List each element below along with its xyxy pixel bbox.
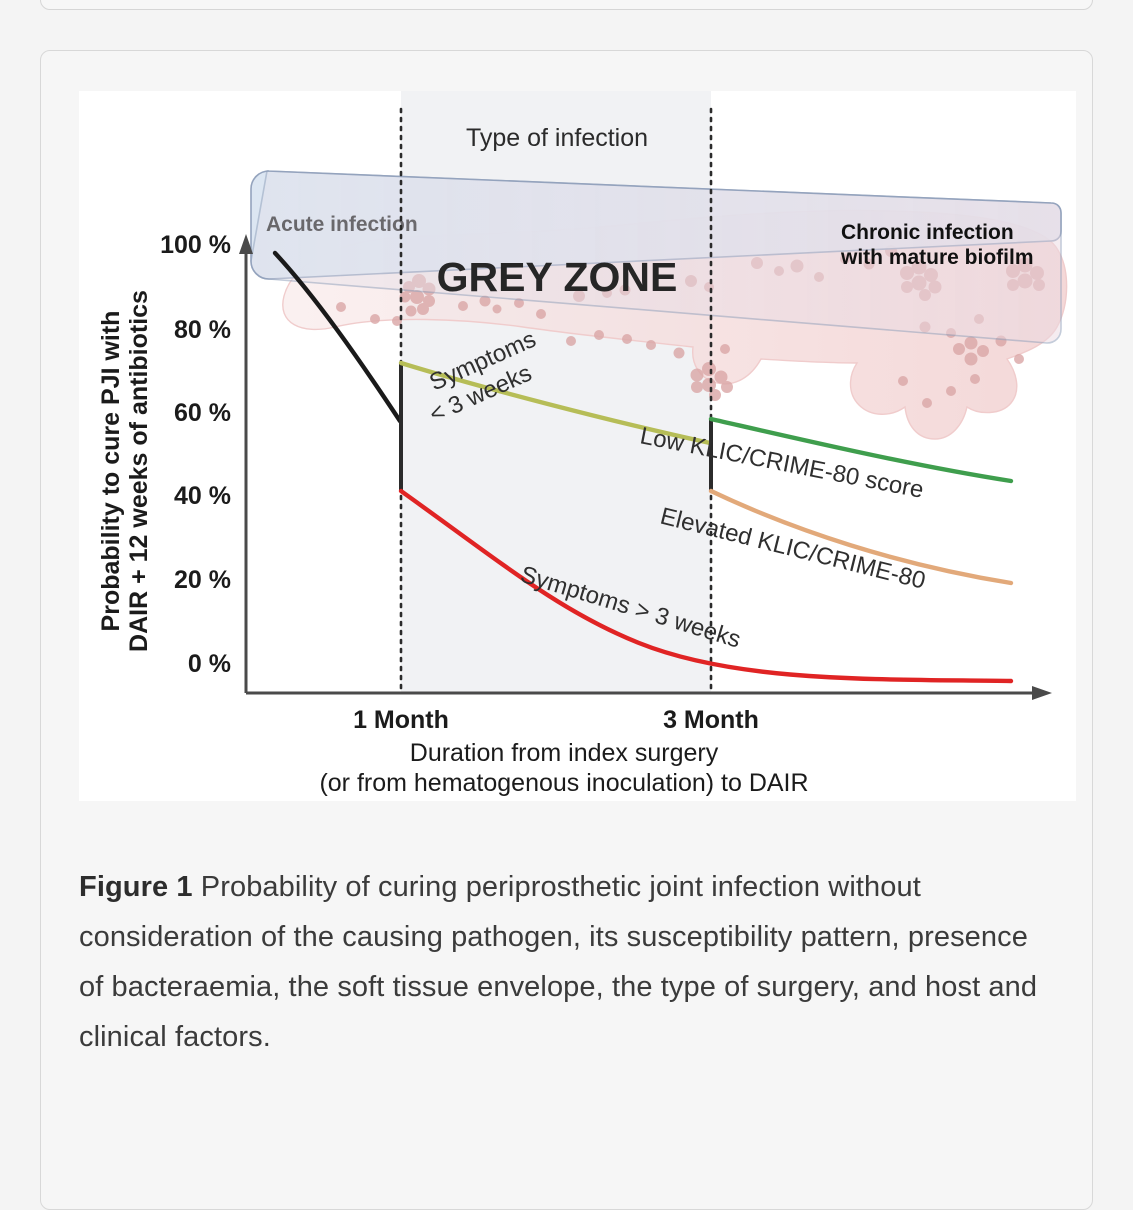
x-axis-title-line2: (or from hematogenous inoculation) to DA… <box>319 769 808 797</box>
y-axis-title: Probability to cure PJI with DAIR + 12 w… <box>97 290 153 652</box>
previous-card-stub <box>40 0 1093 10</box>
chronic-infection-label-line1: Chronic infection <box>841 221 1014 244</box>
figure-image-panel: Acute infection Chronic infection with m… <box>79 91 1076 801</box>
figure-card: Acute infection Chronic infection with m… <box>40 50 1093 1210</box>
figure-caption-body: Probability of curing periprosthetic joi… <box>79 871 1037 1053</box>
y-tick-40: 40 % <box>174 482 231 510</box>
x-tick-3-month: 3 Month <box>663 706 759 734</box>
type-of-infection-label: Type of infection <box>466 124 648 152</box>
y-axis-ticks: 100 % 80 % 60 % 40 % 20 % 0 % <box>160 231 231 678</box>
grey-zone-label: GREY ZONE <box>437 254 678 300</box>
figure-svg: Acute infection Chronic infection with m… <box>79 91 1076 801</box>
figure-caption: Figure 1 Probability of curing periprost… <box>79 863 1039 1063</box>
figure-page: Acute infection Chronic infection with m… <box>0 0 1133 1200</box>
y-tick-0: 0 % <box>188 650 231 678</box>
chronic-infection-label-line2: with mature biofilm <box>840 246 1034 269</box>
figure-caption-label: Figure 1 <box>79 871 193 903</box>
y-tick-20: 20 % <box>174 566 231 594</box>
x-tick-1-month: 1 Month <box>353 706 449 734</box>
y-tick-80: 80 % <box>174 316 231 344</box>
y-tick-100: 100 % <box>160 231 231 259</box>
y-tick-60: 60 % <box>174 399 231 427</box>
x-axis-title-line1: Duration from index surgery <box>410 739 719 767</box>
y-axis-title-line1: Probability to cure PJI with <box>97 311 125 632</box>
y-axis-title-line2: DAIR + 12 weeks of antibiotics <box>125 290 153 652</box>
